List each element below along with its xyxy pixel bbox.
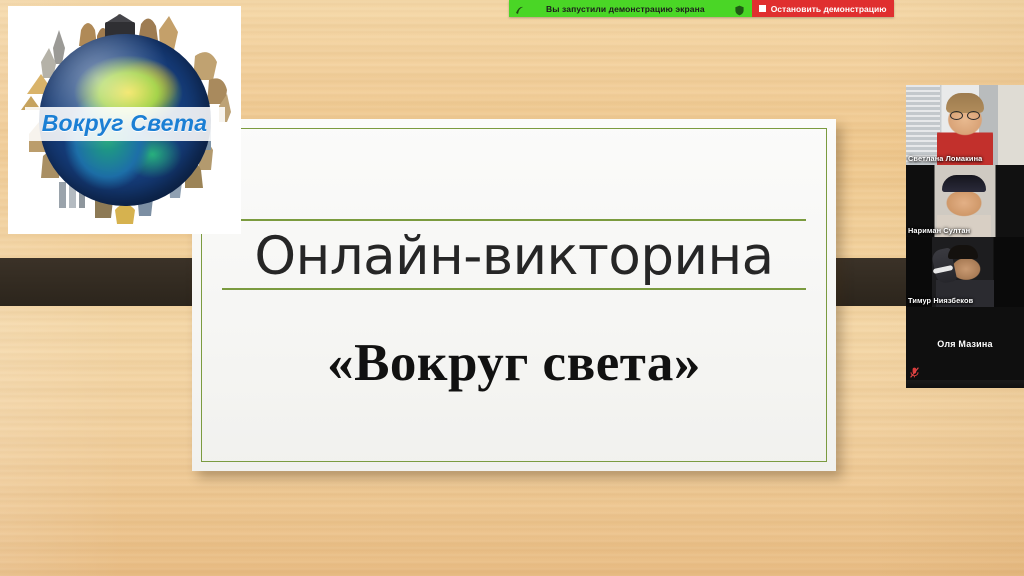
participant-name: Светлана Ломакина (908, 154, 982, 163)
decorative-ribbon-left (0, 258, 206, 306)
screen-share-view: Онлайн-викторина «Вокруг света» (0, 0, 1024, 576)
shield-icon (734, 3, 745, 14)
participant-hair (942, 175, 986, 192)
page-title: Онлайн-викторина (222, 227, 806, 286)
participant-hair (948, 245, 978, 259)
participant-name: Оля Мазина (937, 339, 993, 349)
participant-tile[interactable]: Светлана Ломакина (906, 85, 1024, 165)
participant-name: Тимур Ниязбеков (908, 296, 973, 305)
title-rule-bottom (222, 288, 806, 290)
card-border (201, 128, 827, 462)
zoom-screenshare-toolbar: Вы запустили демонстрацию экрана Останов… (509, 0, 894, 17)
filmstrip-footer (906, 380, 1024, 388)
participant-tile[interactable]: Нариман Султан (906, 165, 1024, 237)
glasses-icon (950, 111, 980, 118)
stop-share-button[interactable]: Остановить демонстрацию (752, 0, 895, 17)
logo-caption: Вокруг Света (25, 107, 225, 141)
sharing-status-pill: Вы запустили демонстрацию экрана (509, 0, 752, 17)
screen-share-icon (514, 3, 525, 14)
globe-graphic: Вокруг Света (19, 14, 231, 226)
sharing-status-text: Вы запустили демонстрацию экрана (532, 4, 727, 14)
participant-filmstrip[interactable]: Светлана Ломакина Нариман Султан Тимур Н… (906, 85, 1024, 380)
slide-content-card: Онлайн-викторина «Вокруг света» (192, 119, 836, 471)
page-subtitle: «Вокруг света» (192, 333, 836, 393)
title-rule-top (222, 219, 806, 221)
logo-image: Вокруг Света (8, 6, 241, 234)
stop-share-label: Остановить демонстрацию (771, 4, 887, 14)
participant-name: Нариман Султан (908, 226, 970, 235)
participant-tile-no-video[interactable]: Оля Мазина (906, 307, 1024, 380)
participant-tile-active-speaker[interactable]: Тимур Ниязбеков (906, 237, 1024, 307)
title-block: Онлайн-викторина (222, 219, 806, 290)
microphone-muted-icon (910, 365, 919, 376)
stop-square-icon (759, 5, 766, 12)
participant-hair (946, 93, 984, 113)
